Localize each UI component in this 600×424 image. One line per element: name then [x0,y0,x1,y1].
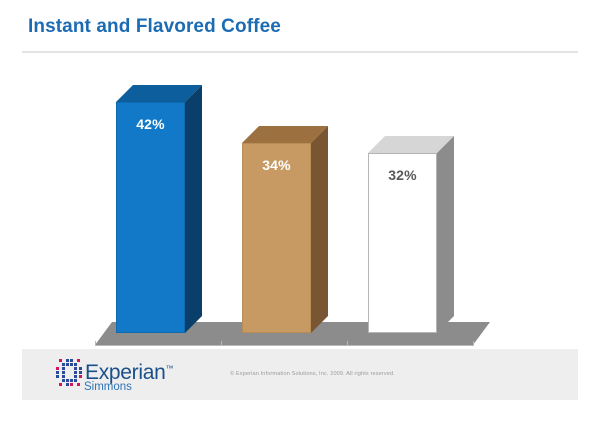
experian-dots-icon [56,359,82,385]
category-axis-line [95,345,473,346]
footer: Experian™ Simmons © Experian Information… [22,349,578,400]
axis-tick-0 [95,341,96,346]
bar-value-swiss-mocha: 32% [368,167,437,183]
bar-hazelnut-side [311,126,328,333]
axis-tick-1 [221,341,222,346]
axis-tick-2 [347,341,348,346]
bar-vanilla-side [185,85,202,333]
bar-vanilla[interactable]: 42% [116,85,202,333]
trademark-symbol: ™ [165,364,173,373]
simmons-subbrand: Simmons [84,381,132,393]
slide: Instant and Flavored Coffee 42% 34% [0,0,600,424]
bar-hazelnut[interactable]: 34% [242,126,328,333]
page-title: Instant and Flavored Coffee [28,16,281,38]
bar-value-hazelnut: 34% [242,157,311,173]
copyright-text: © Experian Information Solutions, Inc. 2… [230,371,395,377]
axis-tick-3 [473,341,474,346]
bar-value-vanilla: 42% [116,116,185,132]
bar-swiss-mocha-side [437,136,454,333]
title-divider [22,51,578,53]
bar-vanilla-front [116,102,185,333]
bar-chart: 42% 34% 32% Vanilla Hazelnut Swiss Mocha… [0,60,600,335]
bar-swiss-mocha[interactable]: 32% [368,136,454,333]
